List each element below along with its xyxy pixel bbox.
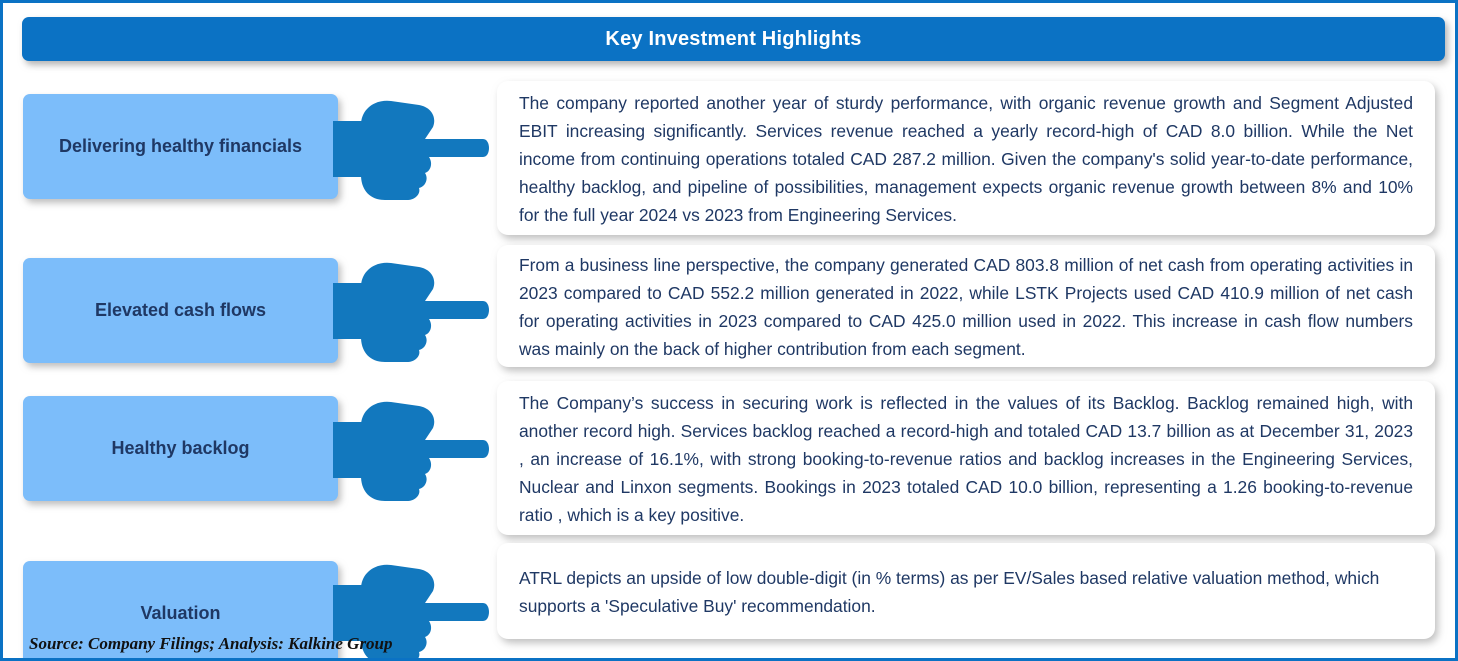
highlight-label-text: Valuation <box>140 603 220 625</box>
key-investment-highlights-page: Key Investment Highlights Delivering hea… <box>0 0 1458 661</box>
highlight-text-card: ATRL depicts an upside of low double-dig… <box>497 543 1435 639</box>
pointing-hand-right-icon <box>333 396 483 504</box>
highlight-row: Healthy backlog The Company’s success in… <box>3 382 1458 541</box>
highlight-label-chip[interactable]: Healthy backlog <box>23 396 338 501</box>
page-title: Key Investment Highlights <box>605 28 861 51</box>
highlight-label-chip[interactable]: Delivering healthy financials <box>23 94 338 199</box>
highlight-label-text: Elevated cash flows <box>95 300 266 322</box>
highlight-text-card: From a business line perspective, the co… <box>497 245 1435 367</box>
highlight-text-card: The company reported another year of stu… <box>497 81 1435 235</box>
highlight-label-text: Healthy backlog <box>111 438 249 460</box>
highlight-row: Delivering healthy financials The compan… <box>3 75 1458 241</box>
highlight-label-chip[interactable]: Elevated cash flows <box>23 258 338 363</box>
highlight-label-text: Delivering healthy financials <box>59 136 302 158</box>
header-banner: Key Investment Highlights <box>22 17 1445 61</box>
highlight-body-text: From a business line perspective, the co… <box>519 251 1413 364</box>
highlight-text-card: The Company’s success in securing work i… <box>497 381 1435 535</box>
source-note: Source: Company Filings; Analysis: Kalki… <box>29 634 393 654</box>
highlight-body-text: The Company’s success in securing work i… <box>519 389 1413 530</box>
highlight-body-text: The company reported another year of stu… <box>519 89 1413 230</box>
pointing-hand-right-icon <box>333 257 483 365</box>
highlight-row: Elevated cash flows From a business line… <box>3 241 1458 382</box>
pointing-hand-right-icon <box>333 95 483 203</box>
highlight-body-text: ATRL depicts an upside of low double-dig… <box>519 564 1413 620</box>
